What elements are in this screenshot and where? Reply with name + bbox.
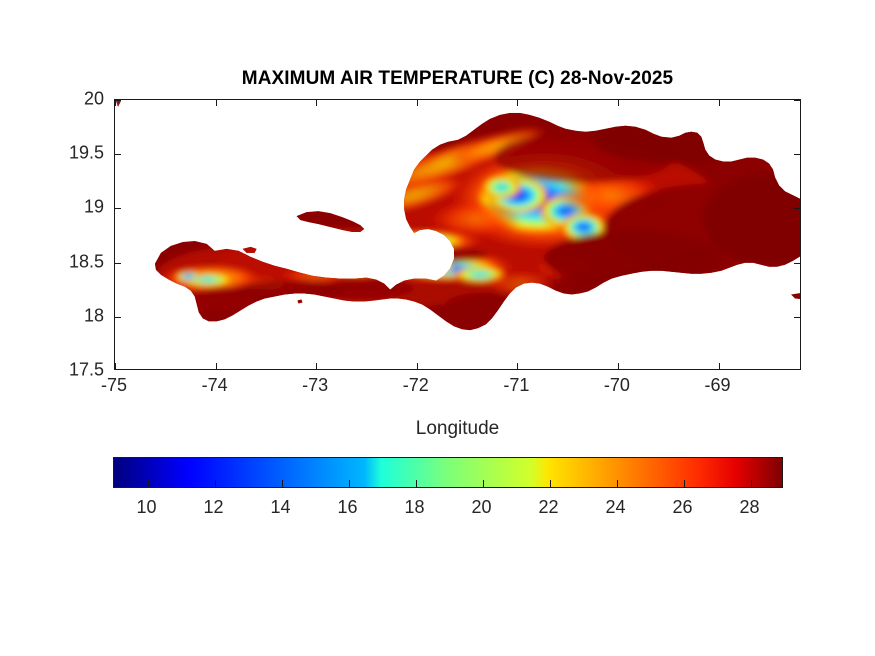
y-tick-mark (115, 154, 121, 155)
colorbar-tick-mark (148, 480, 149, 487)
y-tick-mark (794, 317, 800, 318)
y-tick-mark (115, 208, 121, 209)
y-tick-label: 19.5 (0, 143, 104, 164)
x-tick-mark (417, 100, 418, 106)
colorbar-tick-label: 14 (270, 497, 290, 518)
x-tick-mark (316, 363, 317, 369)
colorbar-tick-mark (215, 480, 216, 487)
colorbar-tick-mark (751, 480, 752, 487)
x-tick-label: -69 (704, 375, 730, 396)
x-tick-label: -74 (202, 375, 228, 396)
x-tick-label: -75 (101, 375, 127, 396)
colorbar-tick-mark (282, 480, 283, 487)
colorbar-tick-label: 28 (739, 497, 759, 518)
y-tick-label: 20 (0, 89, 104, 110)
colorbar-tick-mark (617, 480, 618, 487)
colorbar-tick-mark (684, 480, 685, 487)
colorbar-tick-label: 18 (404, 497, 424, 518)
x-axis-label: Longitude (114, 418, 801, 440)
y-tick-mark (115, 317, 121, 318)
colorbar-tick-mark (349, 480, 350, 487)
x-tick-mark (719, 363, 720, 369)
x-tick-mark (618, 363, 619, 369)
x-tick-mark (719, 100, 720, 106)
x-tick-mark (115, 363, 116, 369)
y-tick-mark (115, 100, 121, 101)
x-tick-mark (216, 100, 217, 106)
x-tick-mark (216, 363, 217, 369)
x-tick-label: -71 (503, 375, 529, 396)
y-tick-mark (794, 208, 800, 209)
colorbar-tick-label: 24 (605, 497, 625, 518)
page-title: MAXIMUM AIR TEMPERATURE (C) 28-Nov-2025 (114, 68, 801, 90)
y-tick-label: 18 (0, 305, 104, 326)
colorbar-tick-mark (483, 480, 484, 487)
y-tick-label: 18.5 (0, 251, 104, 272)
y-tick-mark (794, 154, 800, 155)
x-tick-mark (417, 363, 418, 369)
x-tick-mark (517, 363, 518, 369)
y-tick-mark (794, 263, 800, 264)
colorbar-tick-label: 20 (471, 497, 491, 518)
y-tick-mark (115, 263, 121, 264)
temperature-heatmap (115, 100, 800, 369)
y-tick-label: 17.5 (0, 360, 104, 381)
y-tick-mark (794, 100, 800, 101)
x-tick-label: -72 (403, 375, 429, 396)
x-tick-mark (316, 100, 317, 106)
colorbar-tick-label: 12 (203, 497, 223, 518)
x-tick-label: -70 (604, 375, 630, 396)
colorbar-tick-label: 16 (337, 497, 357, 518)
x-tick-mark (618, 100, 619, 106)
x-tick-label: -73 (302, 375, 328, 396)
colorbar[interactable] (113, 457, 783, 488)
colorbar-tick-label: 26 (672, 497, 692, 518)
colorbar-tick-mark (550, 480, 551, 487)
colorbar-tick-label: 10 (136, 497, 156, 518)
map-axes[interactable] (114, 99, 801, 370)
colorbar-tick-mark (416, 480, 417, 487)
y-tick-label: 19 (0, 197, 104, 218)
figure-canvas: MAXIMUM AIR TEMPERATURE (C) 28-Nov-2025 (0, 0, 875, 656)
colorbar-tick-label: 22 (538, 497, 558, 518)
x-tick-mark (517, 100, 518, 106)
